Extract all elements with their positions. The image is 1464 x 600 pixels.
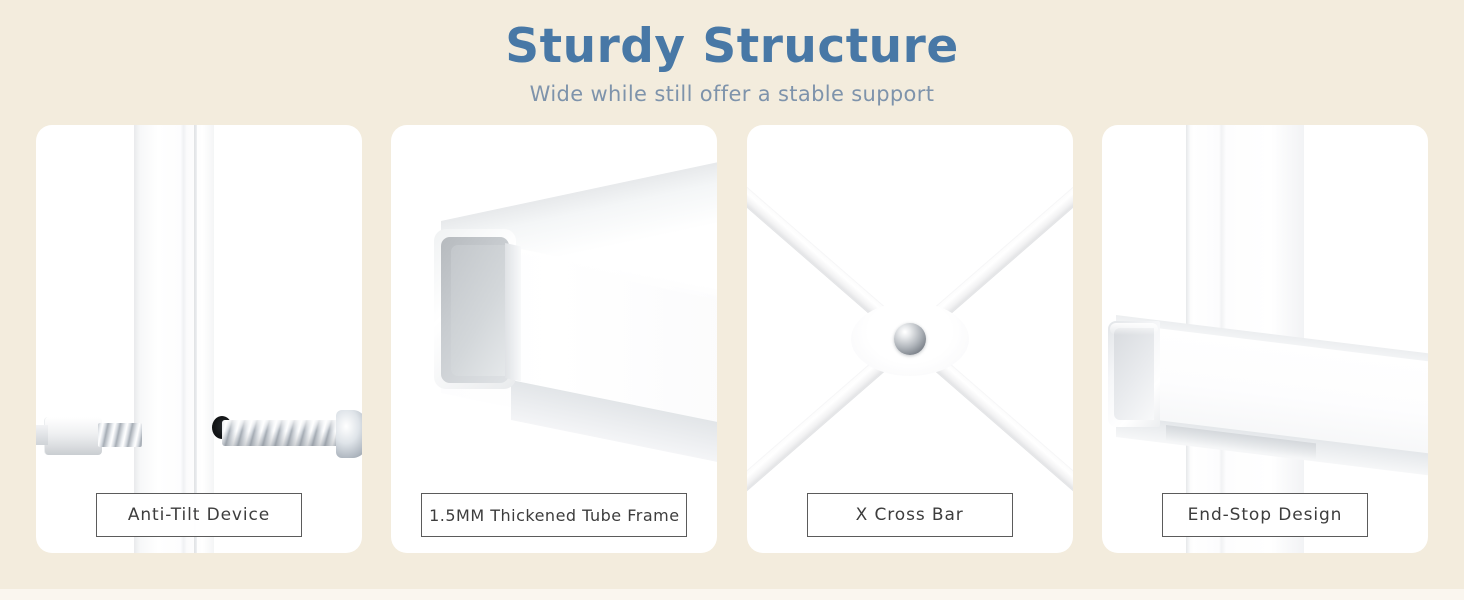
- card-caption-box: Anti-Tilt Device: [96, 493, 302, 537]
- left-screw-tail: [36, 425, 48, 445]
- left-screw-thread: [98, 423, 142, 447]
- feature-card-end-stop-design[interactable]: End-Stop Design: [1102, 125, 1428, 553]
- feature-card-tube-frame[interactable]: 1.5MM Thickened Tube Frame: [391, 125, 717, 553]
- right-screw-thread: [222, 420, 346, 446]
- card-caption-box: End-Stop Design: [1162, 493, 1368, 537]
- card-caption-box: 1.5MM Thickened Tube Frame: [421, 493, 687, 537]
- right-screw-head: [336, 410, 362, 458]
- x-cross-bar-illustration: [747, 125, 1073, 553]
- center-rivet-icon: [894, 323, 926, 355]
- card-caption-label: 1.5MM Thickened Tube Frame: [429, 506, 679, 525]
- anti-tilt-screw-illustration: [36, 125, 362, 553]
- rail-end-cap-highlight: [1110, 323, 1158, 335]
- end-stop-rail-illustration: [1102, 125, 1428, 553]
- wall-anchor-shape: [44, 417, 102, 455]
- feature-card-row: Anti-Tilt Device 1.5MM Thickened Tube Fr…: [36, 125, 1428, 553]
- rail-end-cap-inner: [1114, 328, 1154, 420]
- page-subtitle: Wide while still offer a stable support: [0, 82, 1464, 106]
- page-title: Sturdy Structure: [0, 22, 1464, 73]
- tube-bore-edge: [505, 243, 521, 381]
- post-seam-line: [194, 125, 197, 553]
- square-tube-illustration: [391, 125, 717, 553]
- card-caption-label: End-Stop Design: [1188, 505, 1343, 525]
- card-caption-box: X Cross Bar: [807, 493, 1013, 537]
- bottom-accent-strip: [0, 589, 1464, 600]
- promo-banner: Sturdy Structure Wide while still offer …: [0, 0, 1464, 600]
- feature-card-anti-tilt-device[interactable]: Anti-Tilt Device: [36, 125, 362, 553]
- card-caption-label: Anti-Tilt Device: [128, 505, 270, 525]
- feature-card-x-cross-bar[interactable]: X Cross Bar: [747, 125, 1073, 553]
- card-caption-label: X Cross Bar: [856, 505, 964, 525]
- banner-header: Sturdy Structure Wide while still offer …: [0, 0, 1464, 106]
- vertical-post-shape: [134, 125, 214, 553]
- tube-bore-inner-wall: [451, 245, 509, 376]
